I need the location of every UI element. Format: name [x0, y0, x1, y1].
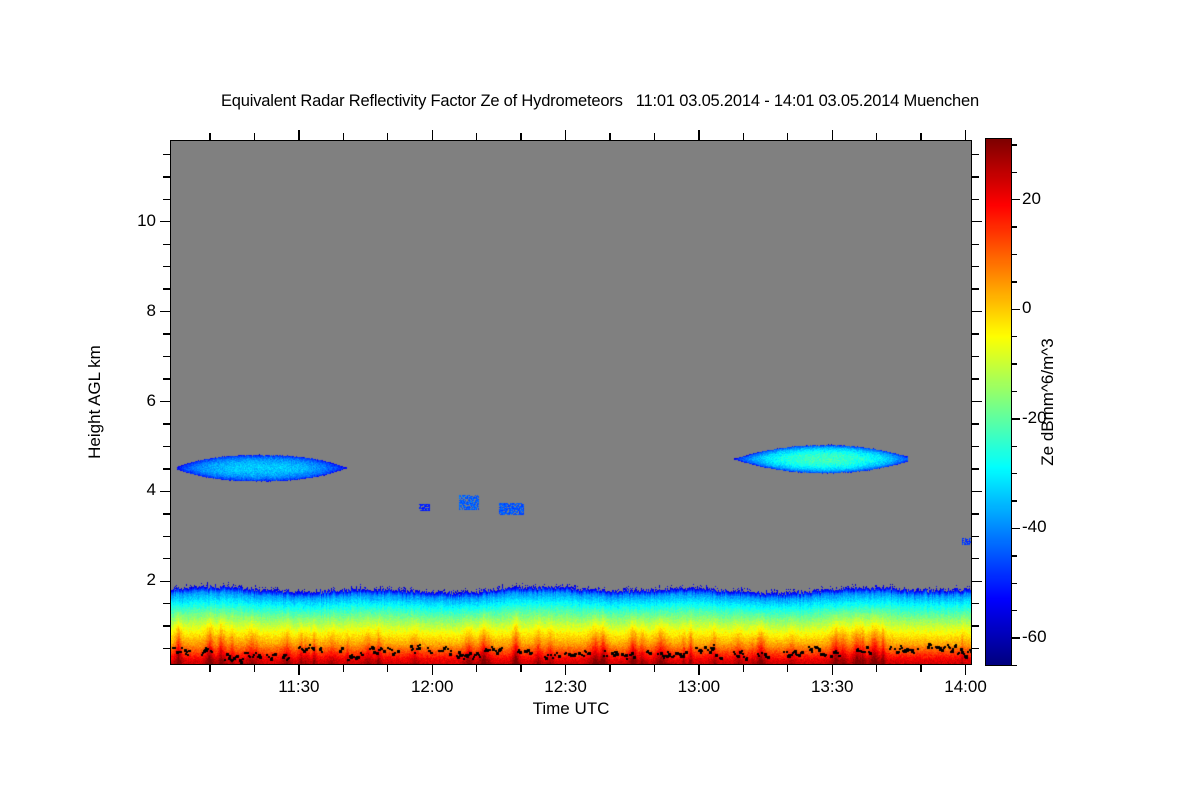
x-tick-minor	[520, 665, 521, 672]
x-tick-top-minor	[343, 133, 344, 140]
colorbar-tick-major	[1012, 528, 1020, 529]
x-tick-top-minor	[876, 133, 877, 140]
x-tick-label: 12:30	[516, 677, 616, 697]
x-tick-top-minor	[520, 133, 521, 140]
y-tick-right-minor	[972, 648, 979, 649]
colorbar-tick-label: -40	[1022, 517, 1047, 537]
colorbar-tick-major	[1012, 309, 1020, 310]
colorbar-tick-minor	[1012, 610, 1017, 611]
y-tick-right-minor	[972, 558, 979, 559]
y-tick-minor	[163, 176, 170, 177]
x-tick-label: 13:00	[649, 677, 749, 697]
y-tick-right-minor	[972, 513, 979, 514]
y-tick-minor	[163, 446, 170, 447]
x-tick-major	[965, 665, 966, 675]
y-tick-minor	[163, 468, 170, 469]
x-tick-top-major	[832, 130, 833, 140]
y-tick-right-minor	[972, 199, 979, 200]
colorbar-tick-minor	[1012, 363, 1017, 364]
page-title: Equivalent Radar Reflectivity Factor Ze …	[0, 92, 1200, 111]
x-tick-minor	[609, 665, 610, 672]
colorbar-tick-minor	[1012, 172, 1017, 173]
y-tick-minor	[163, 423, 170, 424]
y-tick-minor	[163, 603, 170, 604]
x-tick-top-minor	[254, 133, 255, 140]
y-tick-minor	[163, 356, 170, 357]
colorbar-tick-minor	[1012, 583, 1017, 584]
y-tick-right-minor	[972, 446, 979, 447]
x-tick-minor	[343, 665, 344, 672]
y-tick-minor	[163, 199, 170, 200]
x-tick-top-major	[565, 130, 566, 140]
colorbar-tick-major	[1012, 199, 1020, 200]
y-tick-right-major	[972, 311, 982, 312]
y-tick-right-minor	[972, 468, 979, 469]
x-tick-top-minor	[654, 133, 655, 140]
y-tick-minor	[163, 266, 170, 267]
colorbar-tick-minor	[1012, 254, 1017, 255]
colorbar-tick-minor	[1012, 555, 1017, 556]
radar-plot-area	[170, 140, 972, 665]
y-tick-minor	[163, 625, 170, 626]
x-tick-top-minor	[920, 133, 921, 140]
colorbar-tick-minor	[1012, 144, 1017, 145]
y-tick-minor	[163, 378, 170, 379]
x-tick-top-minor	[787, 133, 788, 140]
colorbar-tick-major	[1012, 637, 1020, 638]
y-tick-minor	[163, 244, 170, 245]
y-axis-title: Height AGL km	[85, 345, 105, 459]
y-tick-right-minor	[972, 154, 979, 155]
x-tick-label: 12:00	[382, 677, 482, 697]
x-tick-top-minor	[609, 133, 610, 140]
x-tick-minor	[476, 665, 477, 672]
y-tick-major	[160, 491, 170, 492]
x-tick-minor	[254, 665, 255, 672]
x-tick-top-major	[432, 130, 433, 140]
x-tick-label: 11:30	[249, 677, 349, 697]
colorbar-tick-label: -60	[1022, 627, 1047, 647]
radar-figure: Equivalent Radar Reflectivity Factor Ze …	[0, 0, 1200, 800]
y-tick-right-major	[972, 581, 982, 582]
y-tick-right-major	[972, 401, 982, 402]
y-tick-label: 6	[108, 391, 156, 411]
x-tick-minor	[920, 665, 921, 672]
y-tick-right-minor	[972, 603, 979, 604]
y-tick-minor	[163, 154, 170, 155]
y-tick-right-minor	[972, 625, 979, 626]
y-tick-right-minor	[972, 266, 979, 267]
x-tick-minor	[209, 665, 210, 672]
colorbar-tick-label: 20	[1022, 189, 1041, 209]
radar-heatmap-canvas	[171, 141, 971, 664]
colorbar-tick-minor	[1012, 391, 1017, 392]
y-tick-right-minor	[972, 378, 979, 379]
colorbar-canvas	[986, 139, 1011, 665]
x-tick-minor	[787, 665, 788, 672]
y-tick-major	[160, 401, 170, 402]
x-tick-minor	[743, 665, 744, 672]
y-tick-right-major	[972, 491, 982, 492]
x-tick-top-major	[698, 130, 699, 140]
y-tick-right-minor	[972, 423, 979, 424]
x-tick-top-major	[298, 130, 299, 140]
y-tick-label: 4	[108, 480, 156, 500]
colorbar-tick-minor	[1012, 446, 1017, 447]
colorbar-tick-major	[1012, 418, 1020, 419]
y-tick-right-minor	[972, 288, 979, 289]
y-tick-right-major	[972, 221, 982, 222]
y-tick-right-minor	[972, 176, 979, 177]
y-tick-minor	[163, 288, 170, 289]
y-tick-label: 2	[108, 570, 156, 590]
colorbar-tick-minor	[1012, 281, 1017, 282]
y-tick-minor	[163, 513, 170, 514]
colorbar-tick-minor	[1012, 473, 1017, 474]
y-tick-major	[160, 221, 170, 222]
x-tick-major	[432, 665, 433, 675]
y-tick-label: 8	[108, 301, 156, 321]
x-tick-major	[298, 665, 299, 675]
y-tick-minor	[163, 558, 170, 559]
colorbar-tick-label: 0	[1022, 298, 1031, 318]
x-tick-major	[565, 665, 566, 675]
x-tick-label: 14:00	[916, 677, 1016, 697]
x-tick-minor	[654, 665, 655, 672]
y-tick-right-minor	[972, 333, 979, 334]
y-tick-minor	[163, 333, 170, 334]
x-tick-top-minor	[387, 133, 388, 140]
x-tick-minor	[387, 665, 388, 672]
x-tick-top-minor	[476, 133, 477, 140]
colorbar-tick-minor	[1012, 336, 1017, 337]
colorbar-tick-minor	[1012, 226, 1017, 227]
x-tick-top-minor	[209, 133, 210, 140]
y-tick-minor	[163, 648, 170, 649]
x-tick-top-minor	[743, 133, 744, 140]
y-tick-major	[160, 311, 170, 312]
x-tick-top-major	[965, 130, 966, 140]
x-tick-label: 13:30	[782, 677, 882, 697]
x-axis-title: Time UTC	[170, 699, 972, 719]
colorbar-tick-minor	[1012, 500, 1017, 501]
y-tick-label: 10	[108, 211, 156, 231]
y-tick-right-minor	[972, 536, 979, 537]
y-tick-right-minor	[972, 244, 979, 245]
x-tick-major	[698, 665, 699, 675]
x-tick-minor	[876, 665, 877, 672]
x-tick-major	[832, 665, 833, 675]
colorbar	[985, 138, 1012, 666]
colorbar-title: Ze dBmm^6/m^3	[1038, 338, 1058, 465]
y-tick-minor	[163, 536, 170, 537]
y-tick-major	[160, 581, 170, 582]
colorbar-tick-minor	[1012, 665, 1017, 666]
y-tick-right-minor	[972, 356, 979, 357]
